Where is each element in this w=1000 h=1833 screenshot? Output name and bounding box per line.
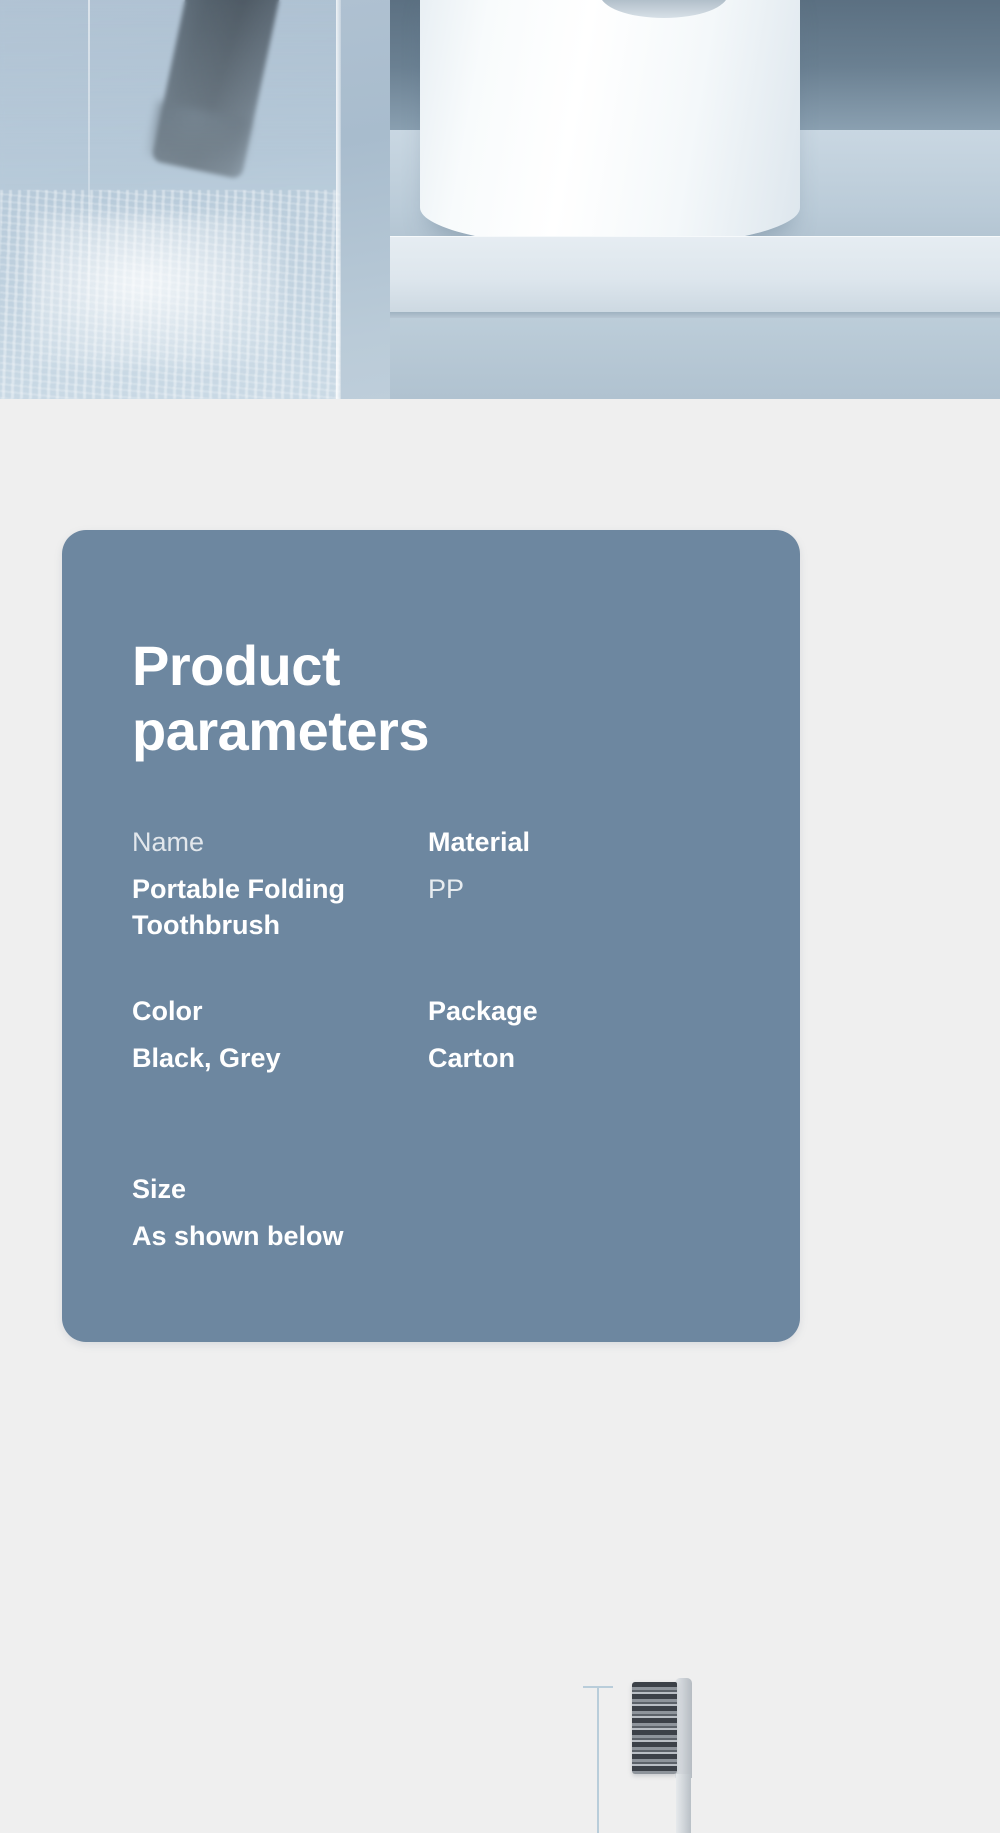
spec-cell-empty [428,1172,728,1254]
spec-cell-size: Size As shown below [132,1172,428,1254]
toothbrush-illustration [632,1682,690,1833]
spec-value-size: As shown below [132,1218,428,1255]
spec-label-color: Color [132,994,428,1030]
spec-row-color-package: Color Black, Grey Package Carton [132,994,732,1076]
title-line-1: Product [132,634,632,699]
title-line-2: parameters [132,699,632,764]
spec-value-package: Carton [428,1040,728,1077]
spec-row-spacer-2 [132,1076,732,1172]
photo-frosted-glass-panel [0,0,340,399]
spec-row-size: Size As shown below [132,1172,732,1254]
spec-cell-color: Color Black, Grey [132,994,428,1076]
photo-under-shelf [390,318,1000,399]
product-parameters-title: Product parameters [132,634,632,764]
hero-product-photo [0,0,1000,399]
photo-front-shelf [390,236,1000,314]
photo-white-cylinder [420,0,800,248]
spec-label-package: Package [428,994,728,1030]
spec-cell-package: Package Carton [428,994,728,1076]
product-detail-page: Product parameters Name Portable Folding… [0,0,1000,1833]
photo-glass-right-edge [336,0,341,399]
spec-row-name-material: Name Portable Folding Toothbrush Materia… [132,825,732,944]
spec-cell-name: Name Portable Folding Toothbrush [132,825,428,944]
toothbrush-bristles [632,1682,677,1774]
spec-label-size: Size [132,1172,428,1208]
spec-label-material: Material [428,825,728,861]
spec-value-name: Portable Folding Toothbrush [132,871,428,944]
photo-glass-seam [88,0,90,310]
size-diagram-section [0,1570,1000,1833]
dimension-line-icon [597,1688,599,1833]
toothbrush-head [675,1678,692,1778]
specification-grid: Name Portable Folding Toothbrush Materia… [132,825,732,1255]
spec-value-material: PP [428,871,728,908]
spec-value-color: Black, Grey [132,1040,428,1077]
spec-cell-material: Material PP [428,825,728,944]
product-parameters-card: Product parameters Name Portable Folding… [62,530,800,1342]
photo-glass-highlight [30,215,280,365]
spec-label-name: Name [132,825,428,861]
spec-row-spacer-1 [132,944,732,994]
toothbrush-neck [676,1774,691,1833]
